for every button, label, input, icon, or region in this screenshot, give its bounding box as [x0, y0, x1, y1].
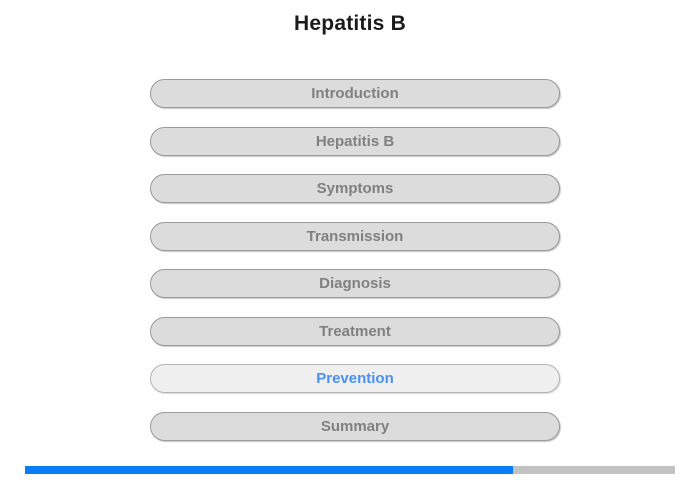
menu-item-label: Introduction — [151, 80, 559, 107]
menu-item-label: Hepatitis B — [151, 128, 559, 155]
progress-bar-fill — [25, 466, 513, 474]
progress-bar[interactable] — [25, 466, 675, 474]
menu-item-prevention[interactable]: Prevention — [150, 364, 560, 393]
menu-item-label: Diagnosis — [151, 270, 559, 297]
menu-item-label: Treatment — [151, 318, 559, 345]
menu-item-summary[interactable]: Summary — [150, 412, 560, 441]
menu-item-label: Summary — [151, 413, 559, 440]
page-title: Hepatitis B — [0, 10, 700, 38]
menu-item-treatment[interactable]: Treatment — [150, 317, 560, 346]
menu-item-label: Transmission — [151, 223, 559, 250]
menu-item-transmission[interactable]: Transmission — [150, 222, 560, 251]
menu-item-label: Prevention — [151, 365, 559, 392]
menu-item-symptoms[interactable]: Symptoms — [150, 174, 560, 203]
menu-item-diagnosis[interactable]: Diagnosis — [150, 269, 560, 298]
menu-item-hepatitis-b[interactable]: Hepatitis B — [150, 127, 560, 156]
menu-item-introduction[interactable]: Introduction — [150, 79, 560, 108]
menu-item-label: Symptoms — [151, 175, 559, 202]
slide-canvas: Hepatitis B Introduction Hepatitis B Sym… — [0, 0, 700, 480]
section-menu: Introduction Hepatitis B Symptoms Transm… — [150, 79, 560, 459]
